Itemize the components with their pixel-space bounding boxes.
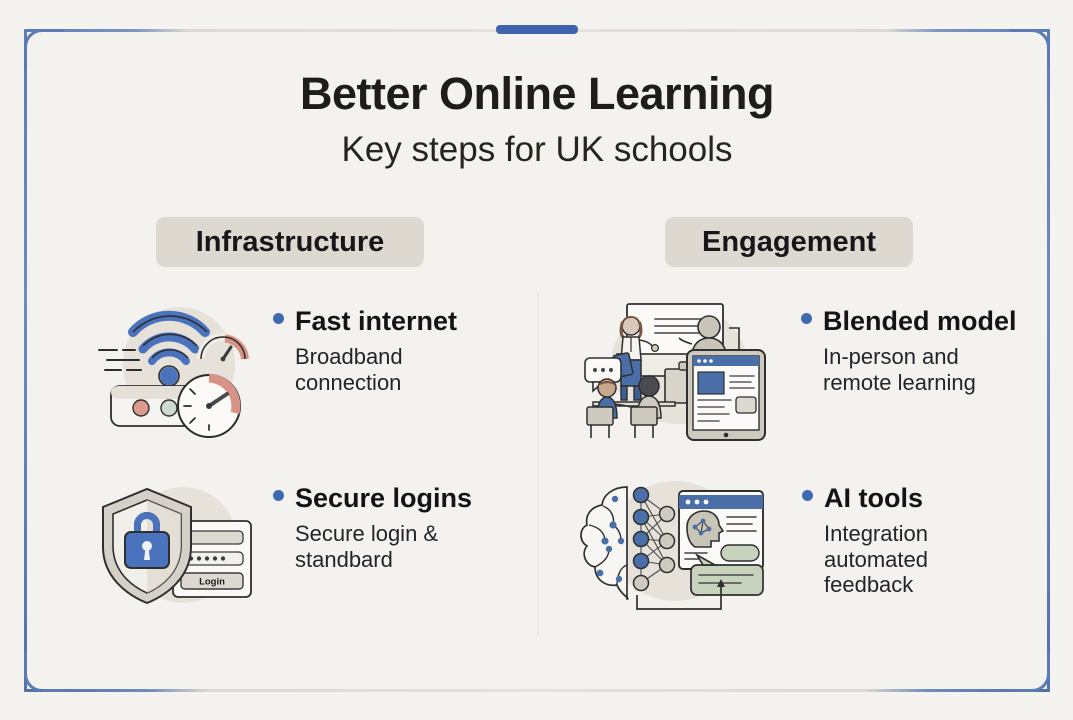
card-corner-top-left	[24, 29, 64, 69]
item-description: Secure login & standbard	[295, 521, 472, 572]
brain-neural-network-icon	[575, 469, 770, 619]
item-description: Integration automated feedback	[824, 521, 928, 598]
list-item-secure-logins: Login Secure logins	[95, 469, 472, 619]
wifi-router-speed-icon	[95, 292, 255, 442]
bullet-dot-icon	[273, 313, 284, 324]
item-title: Blended model	[801, 306, 1017, 337]
column-divider	[537, 292, 539, 636]
login-button-label: Login	[199, 576, 225, 587]
page-subtitle: Key steps for UK schools	[24, 130, 1050, 170]
bullet-dot-icon	[801, 313, 812, 324]
bullet-dot-icon	[273, 490, 284, 501]
item-title: AI tools	[802, 483, 928, 514]
card-border-right	[1047, 29, 1050, 692]
page-title: Better Online Learning	[24, 68, 1050, 120]
list-item-blended-model: Blended model In-person and remote learn…	[579, 292, 1017, 442]
classroom-tablet-icon	[579, 292, 779, 442]
bullet-dot-icon	[802, 490, 813, 501]
list-item-fast-internet: Fast internet Broadband connection	[95, 292, 457, 442]
infographic-card: Better Online Learning Key steps for UK …	[24, 29, 1050, 692]
section-header-engagement: Engagement	[665, 217, 913, 267]
card-border-left	[24, 29, 27, 692]
card-corner-bottom-left	[24, 652, 64, 692]
item-description: Broadband connection	[295, 344, 457, 395]
top-accent-bar	[496, 25, 578, 34]
item-title: Secure logins	[273, 483, 472, 514]
shield-padlock-login-icon: Login	[95, 469, 255, 619]
section-header-infrastructure: Infrastructure	[156, 217, 424, 267]
card-corner-top-right	[1010, 29, 1050, 69]
item-description: In-person and remote learning	[823, 344, 1017, 395]
card-corner-bottom-right	[1010, 652, 1050, 692]
item-title: Fast internet	[273, 306, 457, 337]
card-border-bottom	[24, 689, 1050, 692]
list-item-ai-tools: AI tools Integration automated feedback	[575, 469, 928, 619]
